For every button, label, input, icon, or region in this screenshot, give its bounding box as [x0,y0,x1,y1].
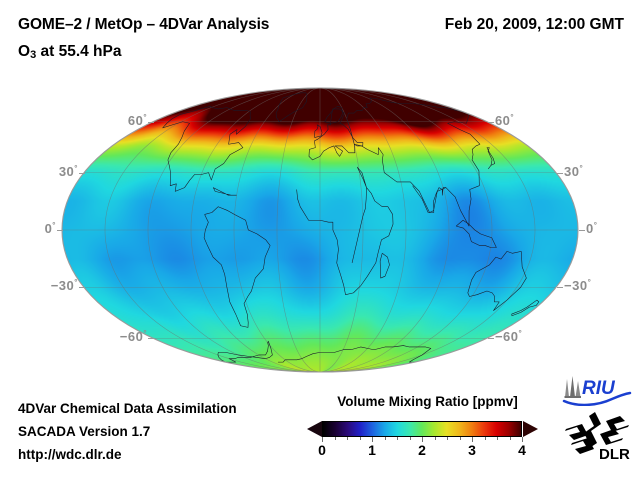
lat-label-right: −60° [495,329,522,344]
colorbar-tick-label: 4 [518,442,526,458]
colorbar-minor-tick [485,437,486,440]
riu-towers-icon [565,376,582,398]
colorbar-minor-tick [335,437,336,440]
colorbar-tick-label: 2 [418,442,426,458]
colorbar-tick-label: 0 [318,442,326,458]
lat-label-right: −30° [564,278,591,293]
footer-line-1: 4DVar Chemical Data Assimilation [18,401,237,416]
lat-label-left: 30° [46,164,78,179]
lat-label-left: 60° [115,113,147,128]
lat-tick [79,173,85,174]
lat-tick [557,173,563,174]
footer-url: http://wdc.dlr.de [18,447,122,462]
colorbar-gradient [322,421,522,437]
colorbar-bar-wrap [305,418,550,440]
lat-label-left: 0° [24,221,56,236]
lat-label-left: −30° [46,278,78,293]
pressure-level-label: at 55.4 hPa [36,43,121,60]
colorbar-tick-label: 1 [368,442,376,458]
colorbar-over-arrow [523,421,538,437]
lat-label-left: −60° [115,329,147,344]
colorbar-under-arrow [307,421,322,437]
colorbar-minor-tick [460,437,461,440]
lat-label-right: 0° [586,221,597,236]
dlr-wordmark: DLR [599,446,630,461]
colorbar-minor-tick [385,437,386,440]
page-subtitle: O3 at 55.4 hPa [18,43,121,61]
lat-label-right: 30° [564,164,583,179]
lat-tick [148,122,154,123]
lat-tick [579,230,585,231]
lat-tick [488,338,494,339]
lat-tick [488,122,494,123]
riu-logo: RIU [560,374,634,406]
riu-wordmark: RIU [582,378,616,399]
colorbar-minor-tick [510,437,511,440]
lat-label-right: 60° [495,113,514,128]
species-symbol: O [18,43,30,60]
lat-tick [57,230,63,231]
colorbar: Volume Mixing Ratio [ppmv] 01234 [305,394,550,464]
colorbar-minor-tick [435,437,436,440]
footer-line-2: SACADA Version 1.7 [18,424,150,439]
map-container: 60°60°30°30°0°0°−30°−30°−60°−60° [0,80,640,380]
timestamp-label: Feb 20, 2009, 12:00 GMT [445,16,624,34]
colorbar-minor-tick [447,437,448,440]
colorbar-title: Volume Mixing Ratio [ppmv] [305,394,550,409]
colorbar-minor-tick [397,437,398,440]
lat-tick [148,338,154,339]
colorbar-minor-tick [360,437,361,440]
page-title: GOME–2 / MetOp – 4DVar Analysis [18,16,269,34]
dlr-logo: DLR [562,409,634,461]
lat-tick [557,287,563,288]
colorbar-minor-tick [497,437,498,440]
colorbar-tick-label: 3 [468,442,476,458]
colorbar-minor-tick [347,437,348,440]
lat-tick [79,287,85,288]
colorbar-minor-tick [410,437,411,440]
